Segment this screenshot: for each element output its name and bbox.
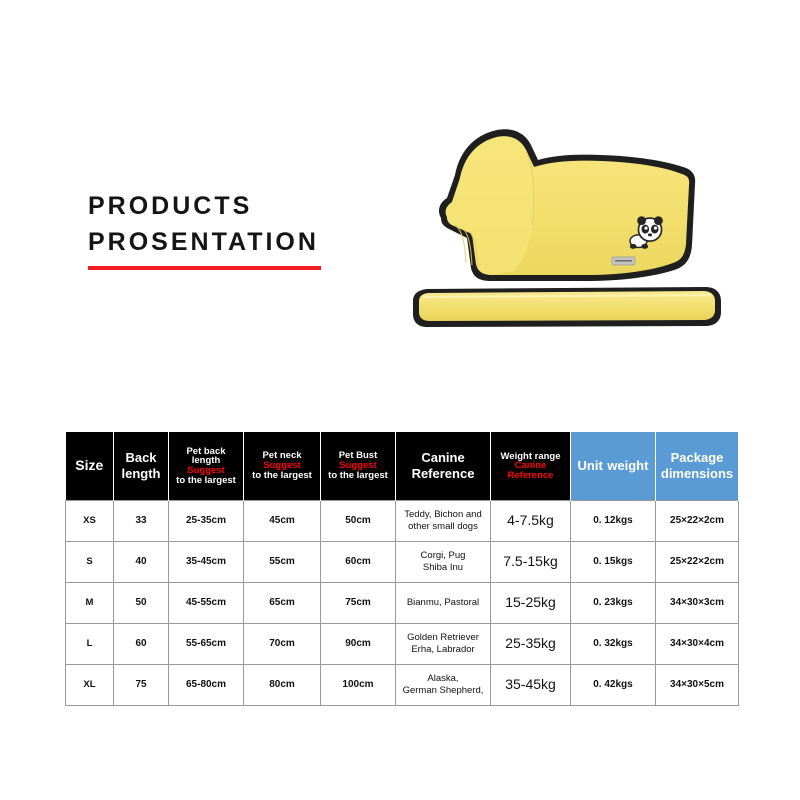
cell-size: L — [66, 624, 114, 665]
belt-strip — [413, 287, 721, 327]
table-row: M 50 45-55cm 65cm 75cm Bianmu, Pastoral … — [66, 583, 739, 624]
header-size: Size — [66, 432, 114, 501]
header-package-dimensions: Package dimensions — [656, 432, 739, 501]
header-back-length-line1: Back — [125, 450, 156, 465]
cell-pet-neck: 45cm — [244, 501, 321, 542]
header-pet-back-length-note: to the largest — [171, 476, 241, 486]
cell-canine-reference: Bianmu, Pastoral — [396, 583, 491, 624]
header-weight-range: Weight range Canine Reference — [491, 432, 571, 501]
header-package-dimensions-line1: Package — [671, 450, 724, 465]
cell-canine-reference: Golden Retriever Erha, Labrador — [396, 624, 491, 665]
cell-unit-weight: 0. 42kgs — [571, 665, 656, 706]
cell-pet-bust: 50cm — [321, 501, 396, 542]
canine-reference-line1: Bianmu, Pastoral — [407, 597, 479, 608]
cell-pet-back-length: 45-55cm — [169, 583, 244, 624]
header-weight-range-sub2: Reference — [493, 471, 568, 481]
header-unit-weight: Unit weight — [571, 432, 656, 501]
cell-unit-weight: 0. 32kgs — [571, 624, 656, 665]
cell-weight-range: 7.5-15kg — [491, 542, 571, 583]
canine-reference-line2: Shiba Inu — [423, 562, 463, 573]
header-pet-bust: Pet Bust Suggest to the largest — [321, 432, 396, 501]
header-pet-back-length: Pet back length Suggest to the largest — [169, 432, 244, 501]
header-canine-reference: Canine Reference — [396, 432, 491, 501]
cell-back-length: 40 — [114, 542, 169, 583]
header-pet-bust-note: to the largest — [323, 471, 393, 481]
cell-unit-weight: 0. 15kgs — [571, 542, 656, 583]
cell-package-dimensions: 34×30×5cm — [656, 665, 739, 706]
header-pet-back-length-label: Pet back length — [171, 447, 241, 466]
cell-unit-weight: 0. 23kgs — [571, 583, 656, 624]
header-back-length-line2: length — [122, 466, 161, 481]
header-canine-reference-line2: Reference — [412, 466, 475, 481]
table-body: XS 33 25-35cm 45cm 50cm Teddy, Bichon an… — [66, 501, 739, 706]
cell-back-length: 60 — [114, 624, 169, 665]
cell-pet-back-length: 65-80cm — [169, 665, 244, 706]
title-underline-rule — [88, 266, 321, 270]
cell-back-length: 75 — [114, 665, 169, 706]
table-row: S 40 35-45cm 55cm 60cm Corgi, Pug Shiba … — [66, 542, 739, 583]
cell-pet-neck: 70cm — [244, 624, 321, 665]
product-photo — [405, 105, 735, 340]
cell-canine-reference: Alaska, German Shepherd, — [396, 665, 491, 706]
cell-pet-bust: 75cm — [321, 583, 396, 624]
cell-weight-range: 35-45kg — [491, 665, 571, 706]
header-size-label: Size — [75, 457, 103, 473]
table-row: XS 33 25-35cm 45cm 50cm Teddy, Bichon an… — [66, 501, 739, 542]
table-header-row: Size Back length Pet back length Suggest… — [66, 432, 739, 501]
canine-reference-line1: Alaska, — [427, 673, 458, 684]
header-canine-reference-line1: Canine — [421, 450, 464, 465]
cell-unit-weight: 0. 12kgs — [571, 501, 656, 542]
header-unit-weight-line2: weight — [607, 458, 648, 473]
cell-size: S — [66, 542, 114, 583]
pet-bathrobe-illustration — [405, 105, 735, 340]
brand-tag — [612, 257, 635, 265]
canine-reference-line2: German Shepherd, — [403, 685, 484, 696]
header-unit-weight-line1: Unit — [578, 458, 603, 473]
robe-body — [439, 129, 695, 281]
cell-pet-bust: 100cm — [321, 665, 396, 706]
cell-weight-range: 4-7.5kg — [491, 501, 571, 542]
cell-back-length: 50 — [114, 583, 169, 624]
table-row: XL 75 65-80cm 80cm 100cm Alaska, German … — [66, 665, 739, 706]
header-package-dimensions-line2: dimensions — [661, 466, 733, 481]
cell-size: M — [66, 583, 114, 624]
header-pet-neck-note: to the largest — [246, 471, 318, 481]
cell-package-dimensions: 25×22×2cm — [656, 501, 739, 542]
page-title: PRODUCTS PROSENTATION — [88, 188, 408, 260]
header-back-length: Back length — [114, 432, 169, 501]
cell-canine-reference: Corgi, Pug Shiba Inu — [396, 542, 491, 583]
canine-reference-line1: Golden Retriever — [407, 632, 479, 643]
cell-pet-back-length: 55-65cm — [169, 624, 244, 665]
cell-pet-back-length: 25-35cm — [169, 501, 244, 542]
cell-canine-reference: Teddy, Bichon and other small dogs — [396, 501, 491, 542]
cell-pet-neck: 80cm — [244, 665, 321, 706]
cell-weight-range: 25-35kg — [491, 624, 571, 665]
cell-pet-bust: 90cm — [321, 624, 396, 665]
cell-pet-back-length: 35-45cm — [169, 542, 244, 583]
cell-size: XS — [66, 501, 114, 542]
page-title-line-2: PROSENTATION — [88, 224, 408, 260]
page-title-line-1: PRODUCTS — [88, 188, 408, 224]
cell-pet-neck: 55cm — [244, 542, 321, 583]
table-row: L 60 55-65cm 70cm 90cm Golden Retriever … — [66, 624, 739, 665]
cell-pet-neck: 65cm — [244, 583, 321, 624]
cell-weight-range: 15-25kg — [491, 583, 571, 624]
cell-package-dimensions: 34×30×3cm — [656, 583, 739, 624]
canine-reference-line1: Corgi, Pug — [421, 550, 466, 561]
canine-reference-line1: Teddy, Bichon and — [404, 509, 481, 520]
header-pet-neck: Pet neck Suggest to the largest — [244, 432, 321, 501]
cell-package-dimensions: 25×22×2cm — [656, 542, 739, 583]
canine-reference-line2: other small dogs — [408, 521, 478, 532]
cell-pet-bust: 60cm — [321, 542, 396, 583]
cell-package-dimensions: 34×30×4cm — [656, 624, 739, 665]
cell-back-length: 33 — [114, 501, 169, 542]
cell-size: XL — [66, 665, 114, 706]
canine-reference-line2: Erha, Labrador — [411, 644, 474, 655]
size-spec-table: Size Back length Pet back length Suggest… — [65, 432, 739, 706]
